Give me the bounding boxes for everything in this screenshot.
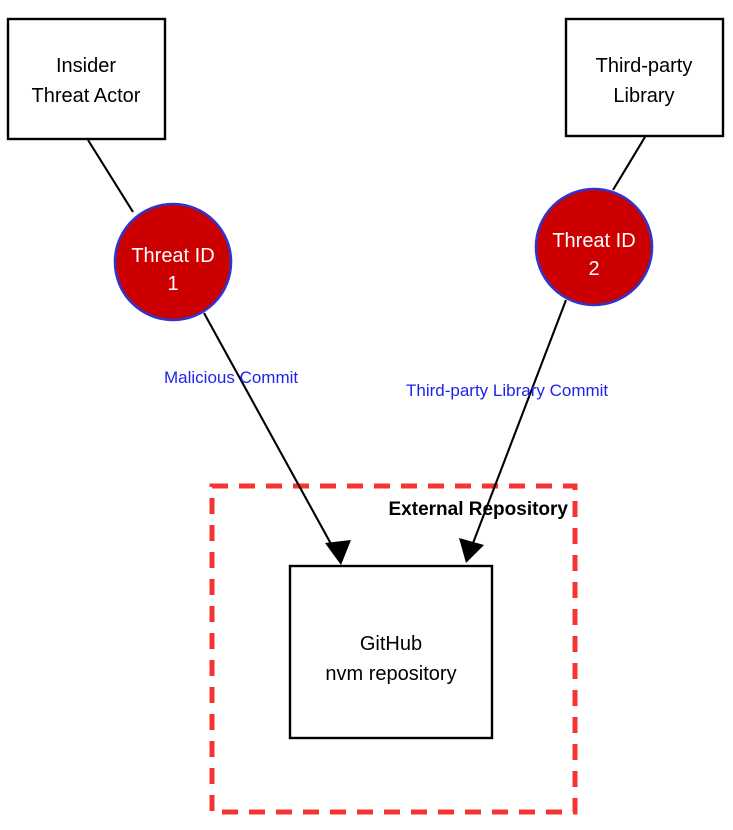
edge-insider-to-threat1: [88, 140, 133, 212]
edge-library-to-threat2: [613, 137, 645, 190]
node-third-party-library[interactable]: [566, 19, 723, 136]
node-third-party-library-label-line1: Third-party: [596, 55, 693, 77]
edge-label-malicious-commit: Malicious Commit: [164, 368, 298, 387]
node-threat-id-2-label-line1: Threat ID: [552, 230, 635, 252]
edge-label-third-party-library-commit: Third-party Library Commit: [406, 381, 608, 400]
node-github-nvm-repository-label-line1: GitHub: [360, 633, 422, 655]
arrowhead-threat1-to-github: [325, 540, 351, 565]
node-github-nvm-repository-label-line2: nvm repository: [325, 663, 456, 685]
group-label-external-repository: External Repository: [389, 499, 569, 520]
node-threat-id-1-label-line1: Threat ID: [131, 245, 214, 267]
node-threat-id-1-label-line2: 1: [167, 273, 178, 295]
node-threat-id-2-label-line2: 2: [588, 258, 599, 280]
node-insider-threat-actor[interactable]: [8, 19, 165, 139]
edge-threat1-to-github: [204, 313, 336, 553]
diagram-svg: Insider Threat Actor Third-party Library…: [0, 0, 733, 830]
node-insider-threat-actor-label-line2: Threat Actor: [32, 85, 141, 107]
node-insider-threat-actor-label-line1: Insider: [56, 55, 116, 77]
node-third-party-library-label-line2: Library: [613, 85, 674, 107]
arrowhead-threat2-to-github: [459, 538, 484, 563]
diagram-canvas: Insider Threat Actor Third-party Library…: [0, 0, 733, 830]
